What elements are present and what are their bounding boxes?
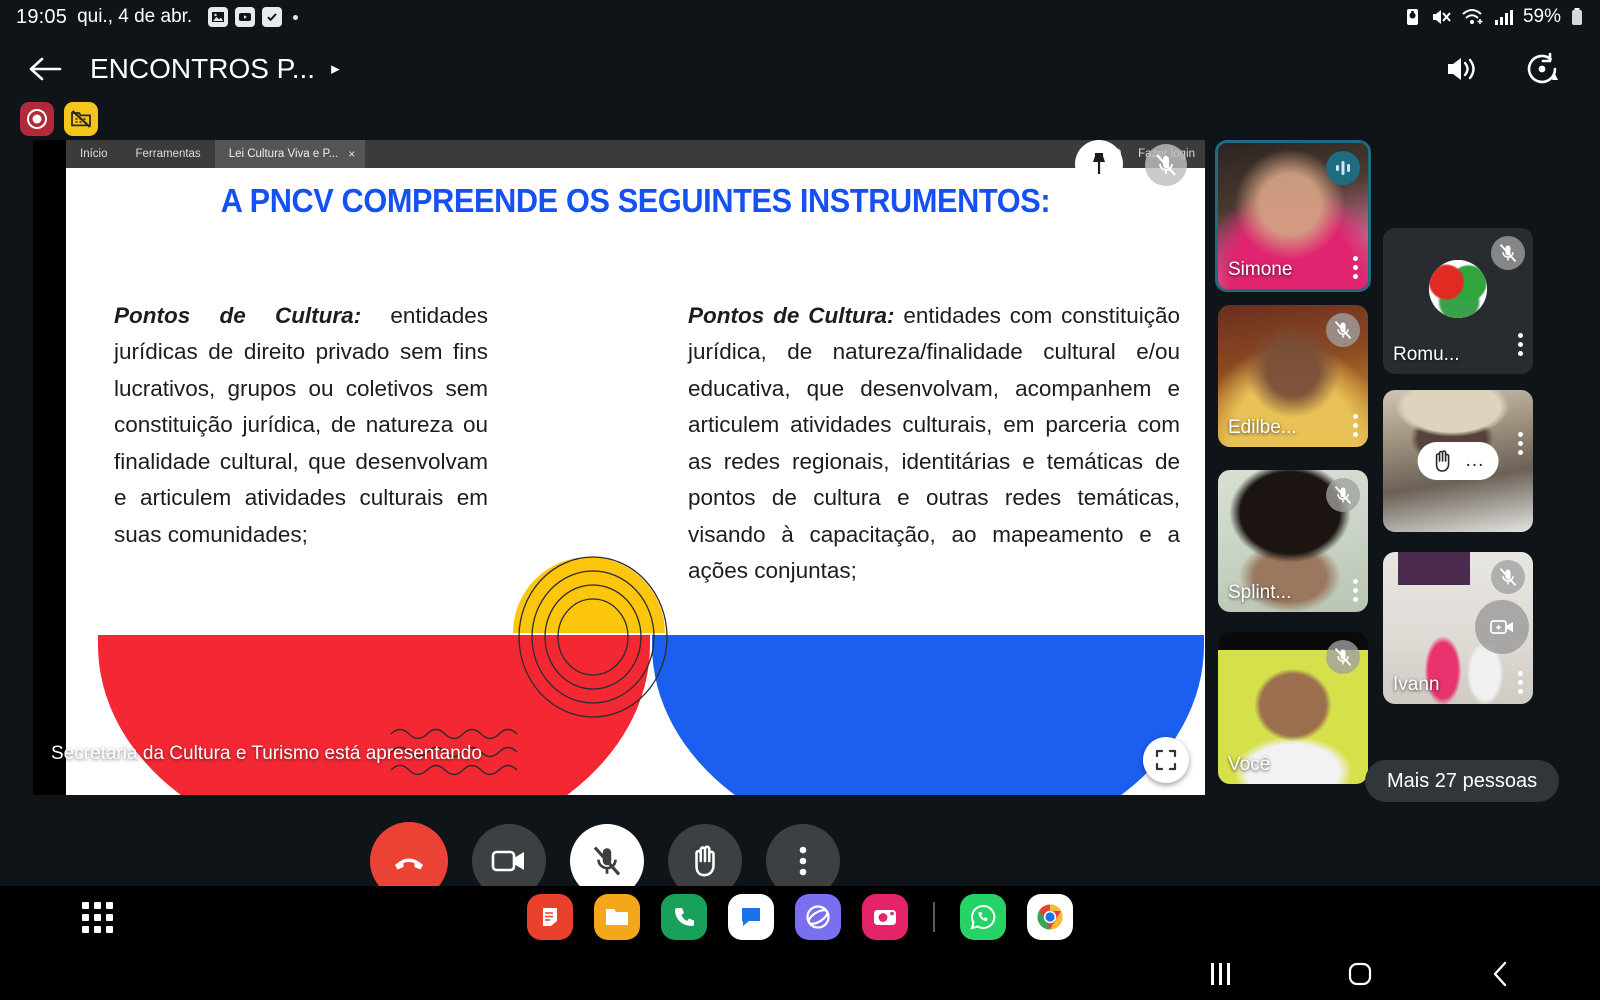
close-icon[interactable]: × [348,147,355,161]
phone-icon[interactable] [661,894,707,940]
mic-off-icon [1491,560,1525,594]
audio-active-icon [1326,151,1360,185]
participant-tile-hand-raised[interactable]: ... [1383,390,1533,532]
youtube-icon [235,7,255,27]
header-badges [20,102,98,136]
slide-column-right-lead: Pontos de Cultura: [688,303,894,328]
participant-tile-simone[interactable]: Simone [1215,140,1371,292]
battery-saver-icon [1404,7,1421,27]
participant-name: Romu... [1393,344,1460,366]
home-icon[interactable] [1325,948,1395,1000]
apps-grid-icon[interactable] [82,902,113,933]
switch-camera-icon[interactable] [1524,52,1560,86]
slide-column-left: Pontos de Cultura: entidades jurídicas d… [114,298,488,553]
slide-title: A PNCV COMPREENDE OS SEGUINTES INSTRUMEN… [106,182,1165,220]
tab-ferramentas[interactable]: Ferramentas [122,140,215,168]
whatsapp-icon[interactable] [960,894,1006,940]
avatar [1429,260,1487,318]
tab-document[interactable]: Lei Cultura Viva e P... × [215,140,366,168]
chrome-icon[interactable] [1027,894,1073,940]
presenter-mic-off-icon [1145,144,1187,186]
tab-document-label: Lei Cultura Viva e P... [229,148,339,160]
decor-blue-shape [652,635,1204,795]
mic-off-icon [1491,236,1525,270]
slide-column-left-body: entidades jurídicas de direito privado s… [114,303,488,547]
participant-options-icon[interactable] [1353,579,1358,602]
battery-icon [1570,7,1584,27]
participant-options-icon[interactable] [1518,671,1523,694]
sound-mute-icon [1430,7,1452,27]
participant-name: Splint... [1228,582,1291,604]
samsung-notes-icon[interactable] [527,894,573,940]
dot-icon [293,15,298,20]
shared-screen-stage[interactable]: Início Ferramentas Lei Cultura Viva e P.… [33,140,1205,795]
recording-badge[interactable] [20,102,54,136]
speaker-icon[interactable] [1444,53,1480,85]
navigation-bar [0,948,1600,1000]
gallery-icon [208,7,228,27]
meeting-title[interactable]: ENCONTROS P... [90,53,315,85]
messages-icon[interactable] [728,894,774,940]
participant-tile-romulo[interactable]: Romu... [1383,228,1533,374]
participant-tile-voce[interactable]: Você [1218,632,1368,784]
presenting-label: Secretaria da Cultura e Turismo está apr… [51,743,482,765]
back-icon[interactable] [1465,948,1535,1000]
participant-options-icon[interactable] [1518,333,1523,356]
status-time: 19:05 [16,6,67,29]
battery-percent: 59% [1523,6,1561,28]
my-files-icon[interactable] [594,894,640,940]
slide-column-right-body: entidades com constituição jurídica, de … [688,303,1180,583]
tab-inicio[interactable]: Início [66,140,122,168]
participant-options-icon[interactable] [1518,432,1523,455]
mic-off-icon [1326,478,1360,512]
participant-name: Ivann [1393,674,1439,696]
wifi-icon [1461,7,1485,27]
slide-column-right: Pontos de Cultura: entidades com constit… [688,298,1180,590]
checkbox-icon [262,7,282,27]
signal-icon [1494,7,1514,27]
camera-switch-icon[interactable] [1475,600,1529,654]
slide-column-left-lead: Pontos de Cultura: [114,303,361,328]
mic-off-icon [1326,640,1360,674]
participant-name: Simone [1228,259,1292,281]
more-people-badge[interactable]: Mais 27 pessoas [1365,760,1559,802]
decor-concentric-rings [514,555,672,725]
back-button[interactable] [22,46,68,92]
status-bar: 19:05 qui., 4 de abr. [0,0,1600,34]
status-date: qui., 4 de abr. [77,6,192,28]
participant-rail[interactable]: Simone Edilbe... Splint... [1215,140,1585,800]
recents-icon[interactable] [1185,948,1255,1000]
fullscreen-button[interactable] [1143,737,1189,783]
raise-hand-icon [1432,449,1454,473]
participant-tile-ivann[interactable]: Ivann [1383,552,1533,704]
participant-options-icon[interactable] [1353,414,1358,437]
chevron-right-icon[interactable]: ▸ [331,59,340,79]
meeting-header: ENCONTROS P... ▸ [0,34,1600,104]
samsung-internet-icon[interactable] [795,894,841,940]
taskbar-divider [933,902,935,932]
camera-icon[interactable] [862,894,908,940]
participant-tile-edilberto[interactable]: Edilbe... [1218,305,1368,447]
document-toolbar: Início Ferramentas Lei Cultura Viva e P.… [66,140,1205,168]
overflow-label: ... [1466,450,1485,472]
participant-name: Edilbe... [1228,417,1297,439]
participant-name: Você [1228,754,1270,776]
participant-options-icon[interactable] [1353,256,1358,279]
slide-content: A PNCV COMPREENDE OS SEGUINTES INSTRUMEN… [66,168,1205,795]
taskbar [0,886,1600,948]
screenshot-blocked-badge[interactable] [64,102,98,136]
mic-off-icon [1326,313,1360,347]
phone-screen: 19:05 qui., 4 de abr. [0,0,1600,1000]
participant-tile-splinter[interactable]: Splint... [1218,470,1368,612]
raise-hand-pill[interactable]: ... [1418,442,1499,480]
pin-button[interactable] [1075,140,1123,188]
